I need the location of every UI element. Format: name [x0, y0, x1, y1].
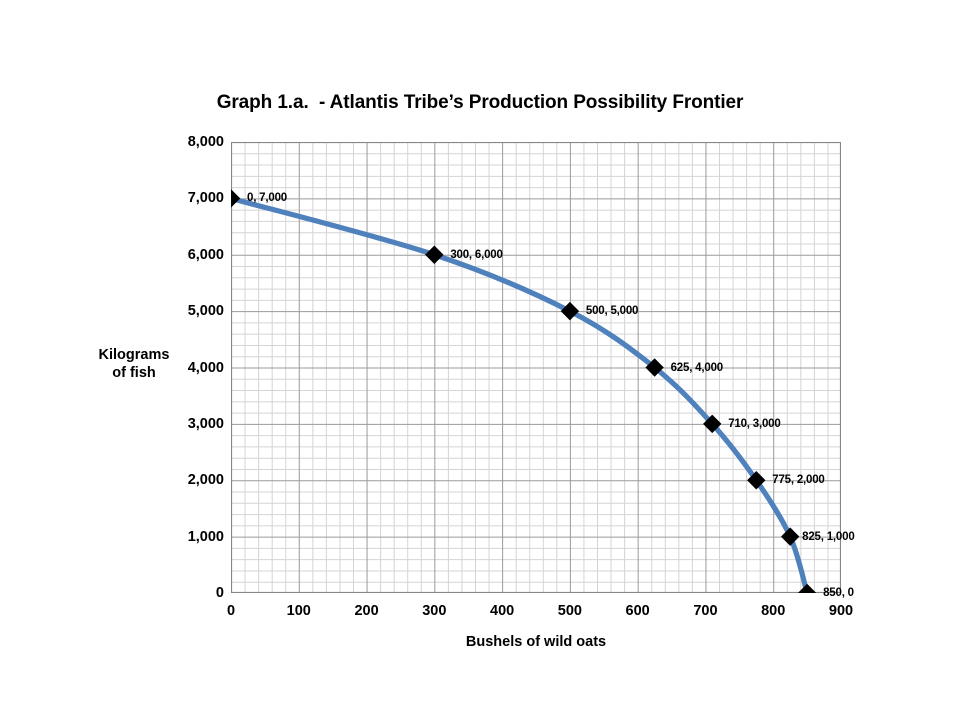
y-axis-tick-label: 1,000: [154, 530, 224, 544]
data-point-label: 625, 4,000: [671, 362, 723, 374]
data-point-label: 300, 6,000: [450, 249, 502, 261]
chart-container: Graph 1.a. - Atlantis Tribe’s Production…: [0, 0, 960, 720]
y-axis-tick-label: 3,000: [154, 417, 224, 431]
data-point-label: 0, 7,000: [247, 192, 287, 204]
y-axis-tick-label: 6,000: [154, 248, 224, 262]
data-point-label: 710, 3,000: [728, 418, 780, 430]
data-point-labels: 0, 7,000300, 6,000500, 5,000625, 4,00071…: [231, 142, 951, 612]
y-axis-tick-label: 8,000: [154, 135, 224, 149]
y-axis-tick-label: 4,000: [154, 361, 224, 375]
y-axis-tick-labels: 01,0002,0003,0004,0005,0006,0007,0008,00…: [152, 142, 224, 593]
y-axis-tick-label: 7,000: [154, 191, 224, 205]
y-axis-tick-label: 0: [154, 586, 224, 600]
x-axis-title: Bushels of wild oats: [231, 634, 841, 650]
data-point-label: 850, 0: [823, 587, 854, 599]
data-point-label: 775, 2,000: [772, 474, 824, 486]
data-point-label: 825, 1,000: [802, 531, 854, 543]
y-axis-tick-label: 5,000: [154, 304, 224, 318]
y-axis-tick-label: 2,000: [154, 473, 224, 487]
chart-title: Graph 1.a. - Atlantis Tribe’s Production…: [0, 92, 960, 114]
data-point-label: 500, 5,000: [586, 305, 638, 317]
